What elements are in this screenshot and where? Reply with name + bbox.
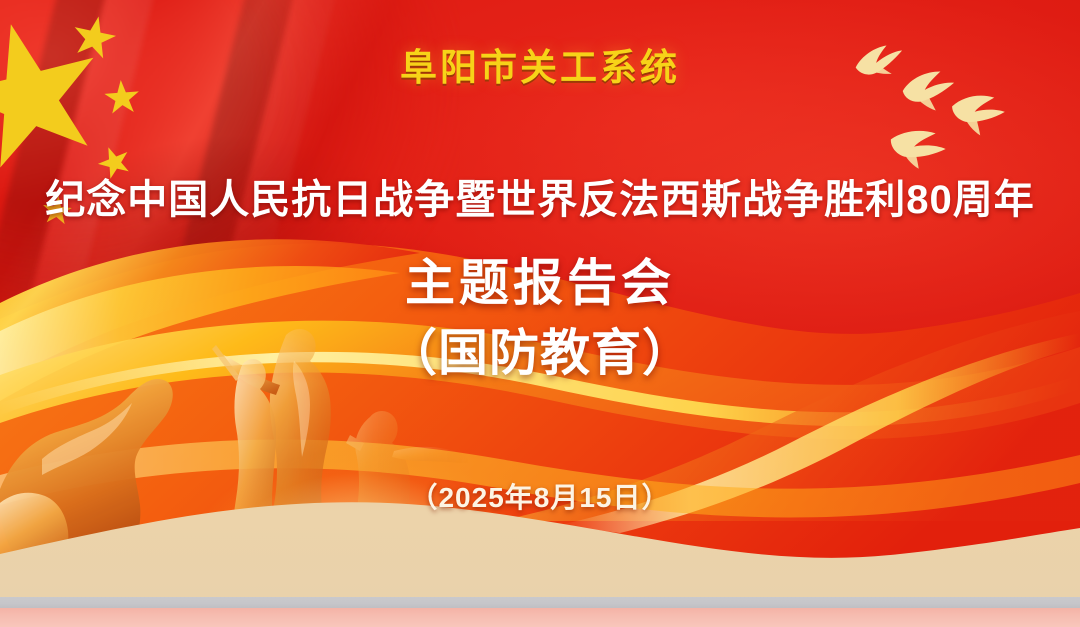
poster-canvas: 阜阳市关工系统 纪念中国人民抗日战争暨世界反法西斯战争胜利80周年 主题报告会 …: [0, 0, 1080, 627]
event-subtitle-line-1: 主题报告会: [0, 258, 1080, 308]
organization-title: 阜阳市关工系统: [0, 46, 1080, 90]
commemoration-headline: 纪念中国人民抗日战争暨世界反法西斯战争胜利80周年: [0, 167, 1080, 225]
poster-text-layer: 阜阳市关工系统 纪念中国人民抗日战争暨世界反法西斯战争胜利80周年 主题报告会 …: [0, 0, 1080, 627]
event-date: （2025年8月15日）: [0, 476, 1080, 516]
event-subtitle-line-2: （国防教育）: [0, 328, 1080, 378]
